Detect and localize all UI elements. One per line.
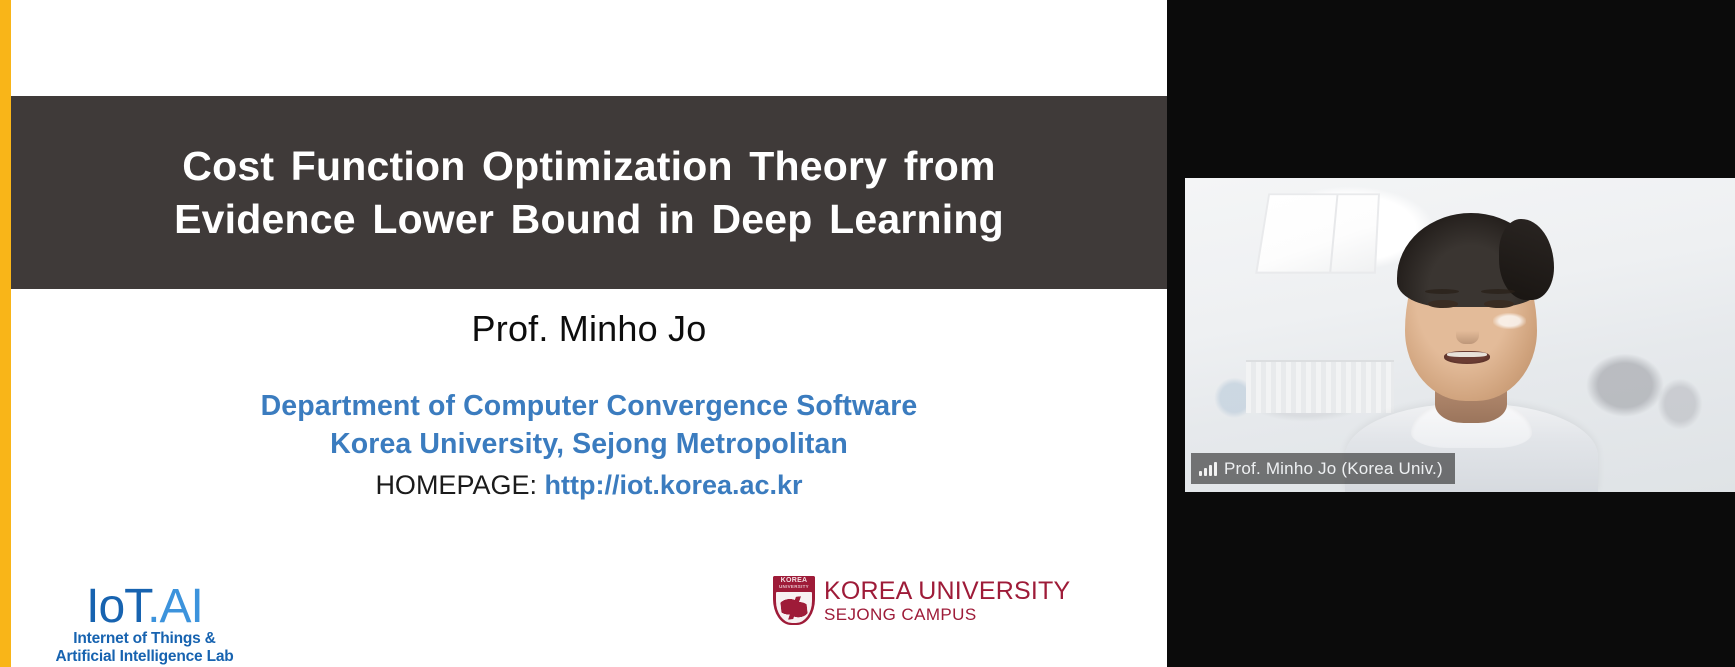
participant-name-label: Prof. Minho Jo (Korea Univ.) [1224,459,1443,479]
homepage-label: HOMEPAGE: [375,470,537,500]
participant-nose [1456,322,1479,344]
homepage-line: HOMEPAGE: http://iot.korea.ac.kr [11,468,1167,504]
crest-banner: KOREA UNIVERSITY [773,576,815,591]
presenter-name: Prof. Minho Jo [11,308,1167,350]
lab-logo: IoT.AI Internet of Things & Artificial I… [32,584,257,665]
participant-name-badge: Prof. Minho Jo (Korea Univ.) [1191,453,1455,484]
slide-title-band: Cost Function Optimization Theory from E… [11,96,1167,289]
webcam-feed [1185,178,1735,492]
participant-eye-right [1484,300,1514,308]
university-name: KOREA UNIVERSITY [824,579,1070,604]
affiliation-line-department: Department of Computer Convergence Softw… [11,388,1167,426]
participant-teeth [1447,352,1488,357]
slide-title: Cost Function Optimization Theory from E… [84,140,1094,245]
crest-banner-top: KOREA [781,577,808,584]
crest-shield-body [776,592,812,623]
face-highlight [1493,313,1526,329]
crest-banner-bottom: UNIVERSITY [779,585,809,590]
tiger-crest-icon: KOREA UNIVERSITY [773,576,815,625]
lab-logo-subtitle-line1: Internet of Things & [32,630,257,647]
ceiling-light-divider [1329,195,1338,271]
korea-university-logo: KOREA UNIVERSITY KOREA UNIVERSITY SEJONG… [773,576,1070,625]
affiliation-line-university: Korea University, Sejong Metropolitan [11,426,1167,464]
screen-share-stage: Cost Function Optimization Theory from E… [0,0,1735,667]
affiliation-block: Department of Computer Convergence Softw… [11,388,1167,504]
background-window-blinds [1246,360,1395,413]
signal-bars-icon [1199,461,1217,476]
ceiling-light [1255,193,1379,273]
participant-eye-left [1428,300,1458,308]
lab-logo-subtitle: Internet of Things & Artificial Intellig… [32,630,257,665]
slide-accent-bar [0,0,11,667]
participant-hair-side [1499,219,1554,301]
homepage-link[interactable]: http://iot.korea.ac.kr [544,470,802,500]
video-panel[interactable]: Prof. Minho Jo (Korea Univ.) [1167,0,1735,667]
lab-logo-subtitle-line2: Artificial Intelligence Lab [32,648,257,665]
lab-wordmark-secondary: .AI [147,580,203,633]
korea-university-wordmark: KOREA UNIVERSITY SEJONG CAMPUS [824,579,1070,623]
university-campus: SEJONG CAMPUS [824,606,1070,623]
lab-logo-wordmark: IoT.AI [32,584,257,630]
slide-content-area: Cost Function Optimization Theory from E… [11,0,1167,667]
tiger-glyph-icon [780,595,808,620]
shared-slide: Cost Function Optimization Theory from E… [0,0,1167,667]
participant-video-tile[interactable]: Prof. Minho Jo (Korea Univ.) [1185,178,1735,492]
lab-wordmark-primary: IoT [86,580,147,633]
